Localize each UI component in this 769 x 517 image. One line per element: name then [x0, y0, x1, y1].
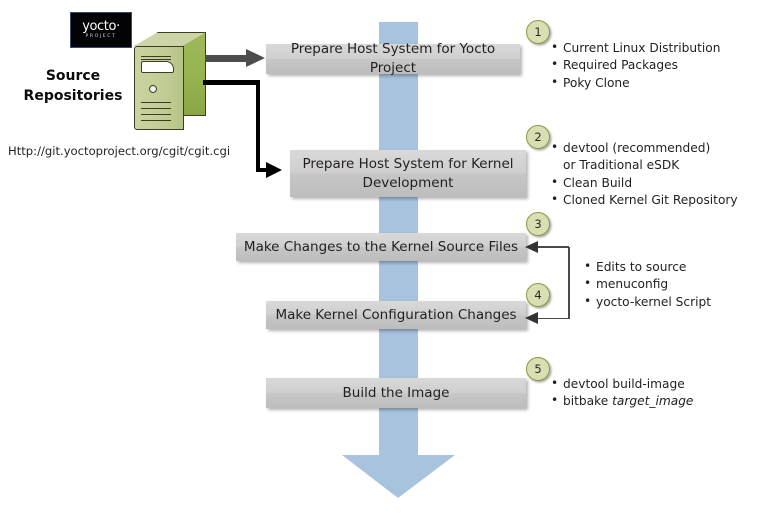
step-number-label: 2: [534, 130, 541, 144]
server-vent-1: [141, 56, 171, 57]
step-number-label: 4: [534, 288, 541, 302]
step-1-bullet-list: Current Linux Distribution Required Pack…: [551, 40, 720, 92]
connector-server-to-box1-line: [205, 55, 249, 62]
step-number-4: 4: [526, 283, 550, 307]
source-repository-url[interactable]: Http://git.yoctoproject.org/cgit/cgit.cg…: [8, 144, 230, 158]
diagram-canvas: yocto· PROJECT Source Repositories Http:…: [0, 0, 769, 517]
process-box-make-kernel-source-changes[interactable]: Make Changes to the Kernel Source Files: [236, 233, 526, 261]
list-item-emphasis: target_image: [612, 394, 693, 408]
process-box-make-kernel-config-changes[interactable]: Make Kernel Configuration Changes: [266, 301, 526, 329]
list-item: Cloned Kernel Git Repository: [551, 192, 738, 209]
server-side-face: [182, 32, 206, 116]
yocto-logo-text: yocto: [82, 19, 116, 34]
source-caption-line1: Source: [18, 66, 128, 86]
flow-arrow-head: [342, 455, 455, 498]
list-item: devtool build-image: [551, 376, 693, 393]
process-box-label: Make Changes to the Kernel Source Files: [244, 238, 518, 257]
step-2-bullet-list: devtool (recommended) or Traditional eSD…: [551, 140, 738, 209]
yocto-logo-wordmark: yocto·: [82, 20, 120, 33]
server-vent-3: [141, 102, 171, 103]
process-box-label: Make Kernel Configuration Changes: [275, 306, 516, 325]
list-item: Poky Clone: [551, 75, 720, 92]
source-caption-line2: Repositories: [18, 86, 128, 106]
step-number-5: 5: [526, 357, 550, 381]
list-item: yocto-kernel Script: [584, 294, 711, 311]
list-item-prefix: bitbake: [563, 394, 612, 408]
server-led-icon: [149, 85, 157, 93]
step-5-bullet-list: devtool build-image bitbake target_image: [551, 376, 693, 411]
connector-server-to-box1-arrowhead: [246, 49, 265, 67]
list-item: bitbake target_image: [551, 393, 693, 410]
server-vent-4: [141, 108, 171, 109]
source-repositories-caption: Source Repositories: [18, 66, 128, 107]
server-vent-5: [141, 114, 171, 115]
source-repository-server-icon: [134, 32, 206, 136]
list-item: Clean Build: [551, 175, 738, 192]
server-drive-slot: [141, 61, 174, 73]
steps-3-4-bullet-list: Edits to source menuconfig yocto-kernel …: [584, 259, 711, 311]
list-item: Required Packages: [551, 57, 720, 74]
bracket-34-arrowhead-top: [525, 241, 538, 253]
process-box-label: Prepare Host System for Yocto Project: [266, 40, 520, 77]
connector-server-to-box2-arrowhead: [266, 162, 282, 178]
connector-server-to-box2-v: [256, 80, 261, 172]
step-number-3: 3: [526, 212, 550, 236]
bracket-34-vertical: [568, 247, 570, 319]
yocto-logo-dot: ·: [116, 19, 120, 34]
list-item: Edits to source: [584, 259, 711, 276]
yocto-logo-subtext: PROJECT: [85, 35, 116, 40]
process-box-prepare-host-kernel[interactable]: Prepare Host System for Kernel Developme…: [290, 150, 526, 197]
step-number-2: 2: [526, 125, 550, 149]
list-item: Current Linux Distribution: [551, 40, 720, 57]
step-number-label: 1: [534, 25, 541, 39]
bracket-34-bottom-horizontal: [536, 318, 569, 320]
step-number-1: 1: [526, 20, 550, 44]
bracket-34-arrowhead-bottom: [525, 312, 538, 324]
process-box-prepare-host-yocto[interactable]: Prepare Host System for Yocto Project: [266, 44, 520, 74]
yocto-logo: yocto· PROJECT: [70, 12, 132, 48]
server-vent-6: [141, 120, 171, 121]
list-item: devtool (recommended) or Traditional eSD…: [551, 140, 723, 175]
bracket-34-top-horizontal: [536, 246, 569, 248]
list-item: menuconfig: [584, 276, 711, 293]
step-number-label: 3: [534, 217, 541, 231]
process-box-build-image[interactable]: Build the Image: [266, 378, 526, 408]
step-number-label: 5: [534, 362, 541, 376]
server-vent-2: [141, 59, 171, 60]
connector-server-to-box2-h1: [203, 80, 260, 85]
process-box-label: Build the Image: [343, 384, 450, 403]
process-box-label: Prepare Host System for Kernel Developme…: [290, 155, 526, 192]
